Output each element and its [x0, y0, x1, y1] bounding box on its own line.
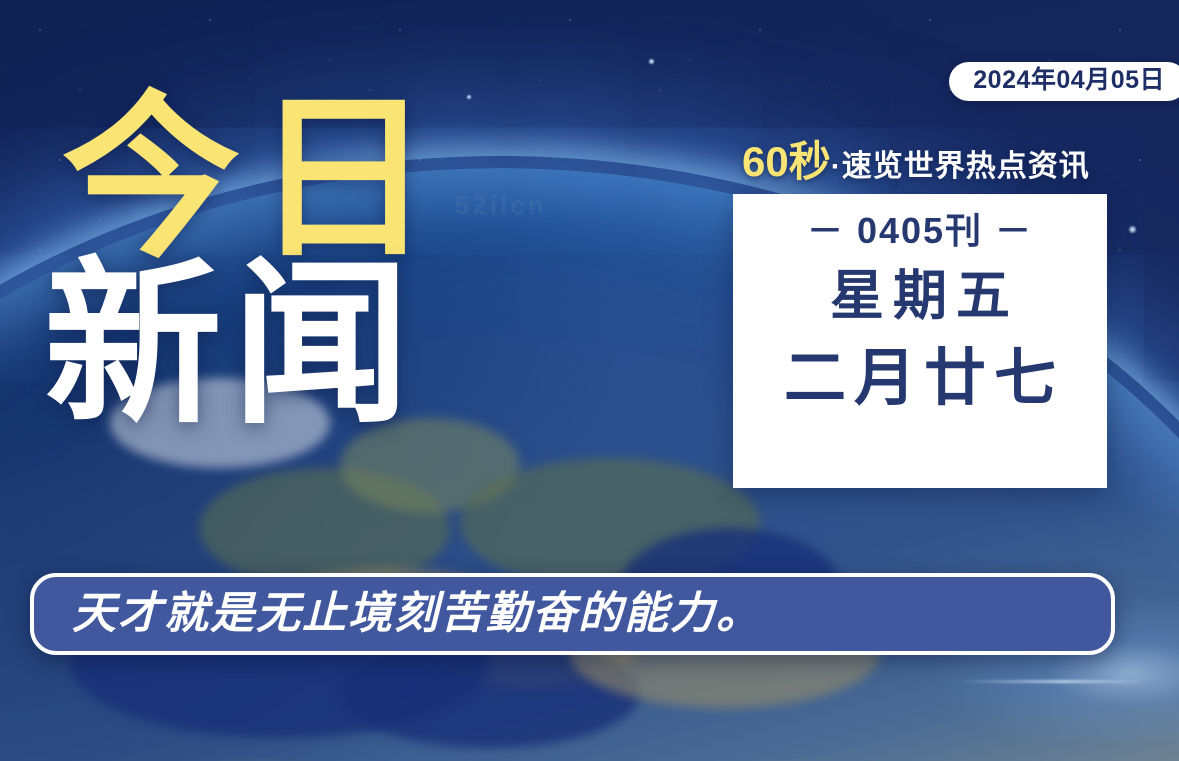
- tagline-rest: ·速览世界热点资讯: [831, 150, 1090, 183]
- poster-title: 今日 新闻: [62, 96, 446, 427]
- title-line-today: 今日: [62, 96, 446, 262]
- date-badge: 2024年04月05日: [949, 62, 1179, 101]
- issue-card: － 0405刊 － 星期五 二月廿七: [733, 194, 1107, 488]
- news-poster: 52ilcn 2024年04月05日 今日 新闻 60秒·速览世界热点资讯 － …: [0, 0, 1179, 761]
- issue-number: － 0405刊 －: [807, 208, 1033, 253]
- weekday-label: 星期五: [821, 267, 1019, 326]
- title-line-news: 新闻: [44, 262, 446, 428]
- bright-star: [1128, 225, 1137, 234]
- bright-star: [648, 58, 655, 65]
- tagline: 60秒·速览世界热点资讯: [742, 141, 1090, 183]
- watermark: 52ilcn: [455, 190, 547, 221]
- lunar-date-label: 二月廿七: [776, 346, 1064, 411]
- quote-bar: 天才就是无止境刻苦勤奋的能力。: [30, 573, 1115, 655]
- tagline-highlight: 60秒: [742, 138, 831, 185]
- bright-star: [466, 94, 472, 100]
- lens-flare-streak: [959, 680, 1149, 683]
- quote-text: 天才就是无止境刻苦勤奋的能力。: [34, 592, 762, 636]
